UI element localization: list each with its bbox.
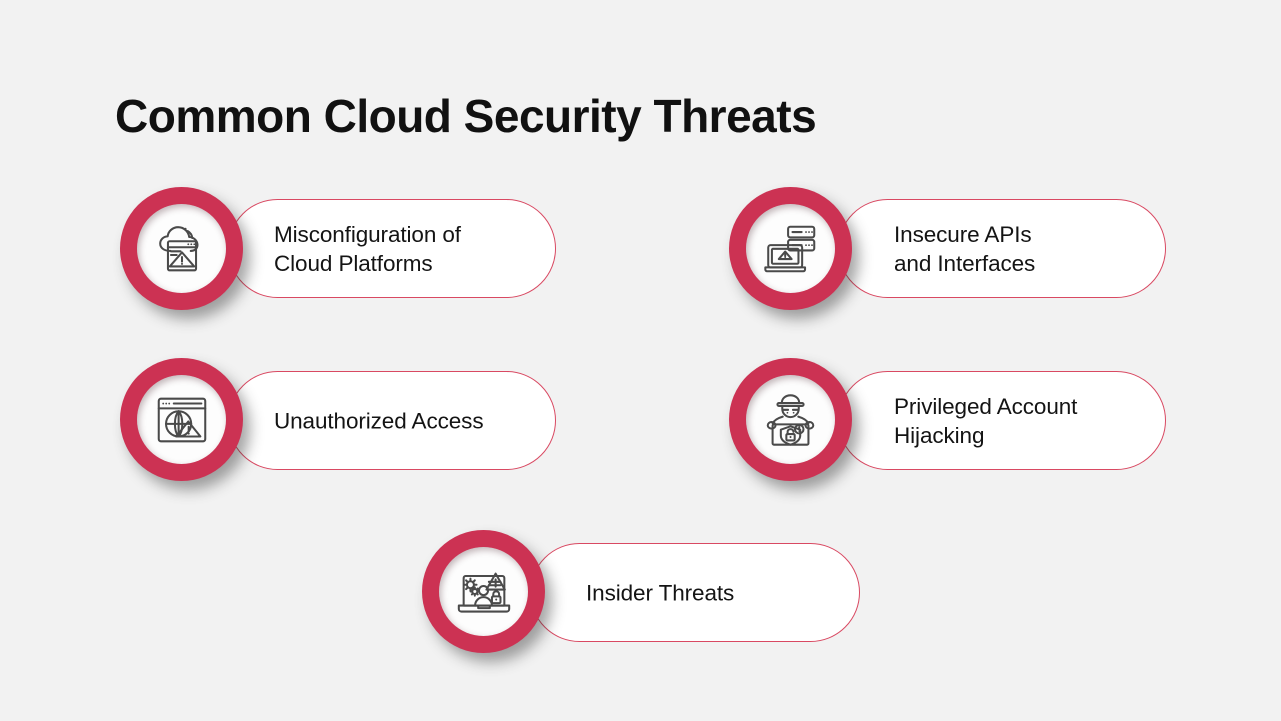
laptop-user-gear-lock-warning-icon xyxy=(453,561,515,623)
hacker-shield-lock-icon xyxy=(760,389,822,451)
threat-card-privileged-account-hijacking[interactable]: Privileged Account Hijacking xyxy=(838,371,1166,470)
browser-globe-warning-icon xyxy=(151,389,213,451)
threat-icon-badge xyxy=(120,187,243,310)
threat-card-insecure-apis-and-interfaces[interactable]: Insecure APIs and Interfaces xyxy=(838,199,1166,298)
threat-icon-badge xyxy=(422,530,545,653)
threat-card-label: Misconfiguration of Cloud Platforms xyxy=(274,220,461,278)
threat-icon-badge xyxy=(120,358,243,481)
badge-inner-disc xyxy=(746,375,835,464)
badge-inner-disc xyxy=(746,204,835,293)
threat-card-label: Insecure APIs and Interfaces xyxy=(894,220,1035,278)
threat-card-misconfiguration-of-cloud-platforms[interactable]: Misconfiguration of Cloud Platforms xyxy=(228,199,556,298)
threat-card-label: Privileged Account Hijacking xyxy=(894,392,1077,450)
threat-card-insider-threats[interactable]: Insider Threats xyxy=(530,543,860,642)
server-laptop-warning-icon xyxy=(760,218,822,280)
threat-icon-badge xyxy=(729,187,852,310)
page-title: Common Cloud Security Threats xyxy=(115,88,816,144)
badge-inner-disc xyxy=(137,204,226,293)
cloud-browser-warning-icon xyxy=(151,218,213,280)
threat-card-label: Insider Threats xyxy=(586,578,734,607)
threat-icon-badge xyxy=(729,358,852,481)
threat-card-unauthorized-access[interactable]: Unauthorized Access xyxy=(228,371,556,470)
badge-inner-disc xyxy=(137,375,226,464)
badge-inner-disc xyxy=(439,547,528,636)
threat-card-label: Unauthorized Access xyxy=(274,406,483,435)
slide-canvas: Common Cloud Security Threats Misconfigu… xyxy=(0,0,1281,721)
